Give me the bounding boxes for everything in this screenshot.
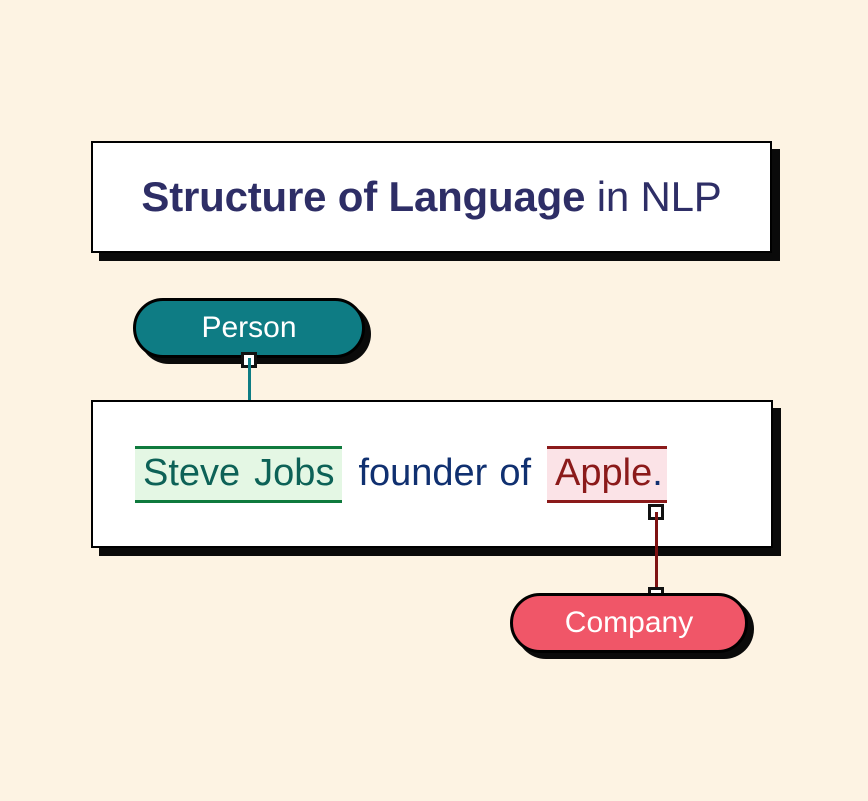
entity-label-company[interactable]: Company xyxy=(510,593,748,653)
entity-label-person-text: Person xyxy=(201,311,296,345)
entity-span-company[interactable]: Apple. xyxy=(547,446,667,503)
sentence-card: SteveJobsfounderofApple. xyxy=(91,400,773,548)
token-founder: founder xyxy=(358,452,487,494)
title-remainder: in NLP xyxy=(585,173,721,220)
title-emphasis: Structure of Language xyxy=(141,173,585,220)
entity-label-person[interactable]: Person xyxy=(133,298,365,358)
entity-label-company-text: Company xyxy=(565,606,693,640)
plain-span-founder-of: founderof xyxy=(342,453,531,494)
token-of: of xyxy=(499,452,531,494)
title-card: Structure of Language in NLP xyxy=(91,141,772,253)
entity-span-person[interactable]: SteveJobs xyxy=(135,446,342,503)
page-title: Structure of Language in NLP xyxy=(141,173,721,221)
annotated-sentence: SteveJobsfounderofApple. xyxy=(135,446,667,503)
token-apple: Apple xyxy=(555,452,652,494)
token-steve: Steve xyxy=(143,452,240,494)
connector-line-company xyxy=(655,512,658,595)
token-jobs: Jobs xyxy=(254,452,334,494)
diagram-canvas: Structure of Language in NLP Person Stev… xyxy=(0,0,868,801)
token-period: . xyxy=(652,452,663,494)
